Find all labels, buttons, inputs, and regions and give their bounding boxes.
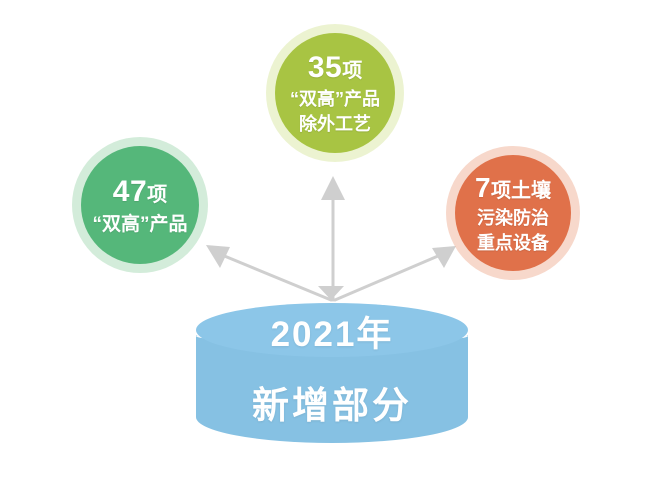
arrow-to-green xyxy=(206,245,331,300)
bubble-headline-olive: 35项 xyxy=(290,50,380,87)
bubble-headline-orange: 7项土壤 xyxy=(475,171,551,205)
bubble-unit-green: 项 xyxy=(147,184,167,206)
bubble-detail-orange-2: 重点设备 xyxy=(475,233,551,255)
bubble-unit-olive: 项 xyxy=(342,60,362,82)
bubble-count-orange: 7 xyxy=(475,172,491,203)
cylinder-body-label: 新增部分 xyxy=(196,375,468,429)
infographic-canvas: 47项 “双高”产品 35项 “双高”产品 除外工艺 7项土壤 污染防治 重点设… xyxy=(0,0,648,480)
cylinder-hub[interactable]: 2021年 新增部分 xyxy=(196,303,468,443)
node-bubble-orange[interactable]: 7项土壤 污染防治 重点设备 xyxy=(446,146,580,280)
bubble-headline-green: 47项 xyxy=(92,174,187,211)
bubble-count-olive: 35 xyxy=(308,51,342,84)
arrow-to-orange xyxy=(335,246,456,300)
bubble-detail-olive-1: “双高”产品 xyxy=(290,89,380,111)
cylinder-year-label: 2021年 xyxy=(196,306,468,357)
bubble-count-green: 47 xyxy=(113,175,147,208)
arrow-to-olive xyxy=(321,176,345,300)
node-bubble-olive[interactable]: 35项 “双高”产品 除外工艺 xyxy=(266,24,404,162)
bubble-detail-orange-1: 污染防治 xyxy=(475,208,551,230)
bubble-labels-orange: 7项土壤 污染防治 重点设备 xyxy=(475,171,551,255)
bubble-detail-green-1: “双高”产品 xyxy=(92,213,187,236)
bubble-labels-olive: 35项 “双高”产品 除外工艺 xyxy=(290,50,380,137)
node-bubble-green[interactable]: 47项 “双高”产品 xyxy=(72,137,208,273)
bubble-labels-green: 47项 “双高”产品 xyxy=(92,174,187,237)
bubble-detail-olive-2: 除外工艺 xyxy=(290,114,380,136)
bubble-unit-orange: 项土壤 xyxy=(491,180,551,202)
